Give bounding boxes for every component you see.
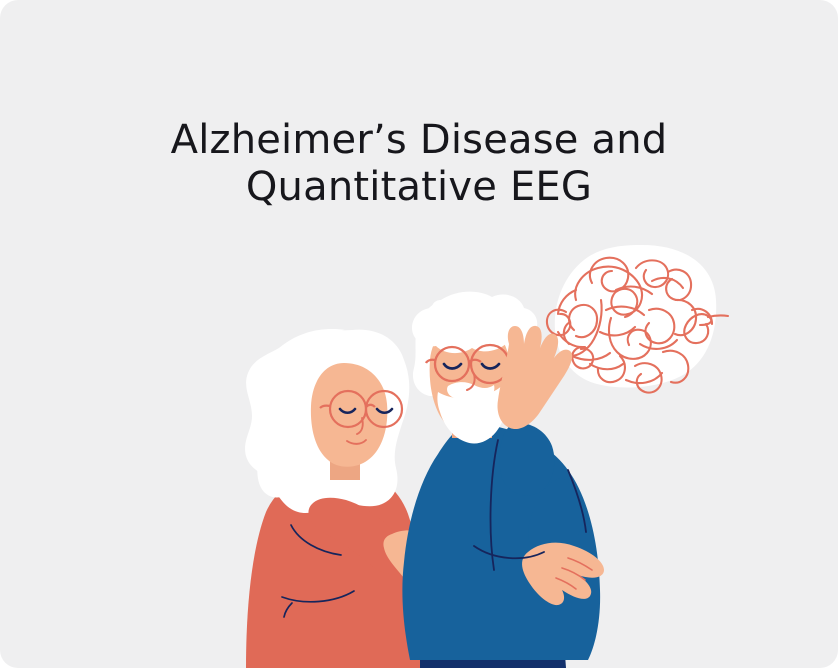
slide-canvas: Alzheimer’s Disease and Quantitative EEG <box>0 0 838 668</box>
woman-face <box>311 363 387 467</box>
illustration-elderly-couple <box>0 0 838 668</box>
man-raised-arm-sleeve <box>499 423 554 495</box>
